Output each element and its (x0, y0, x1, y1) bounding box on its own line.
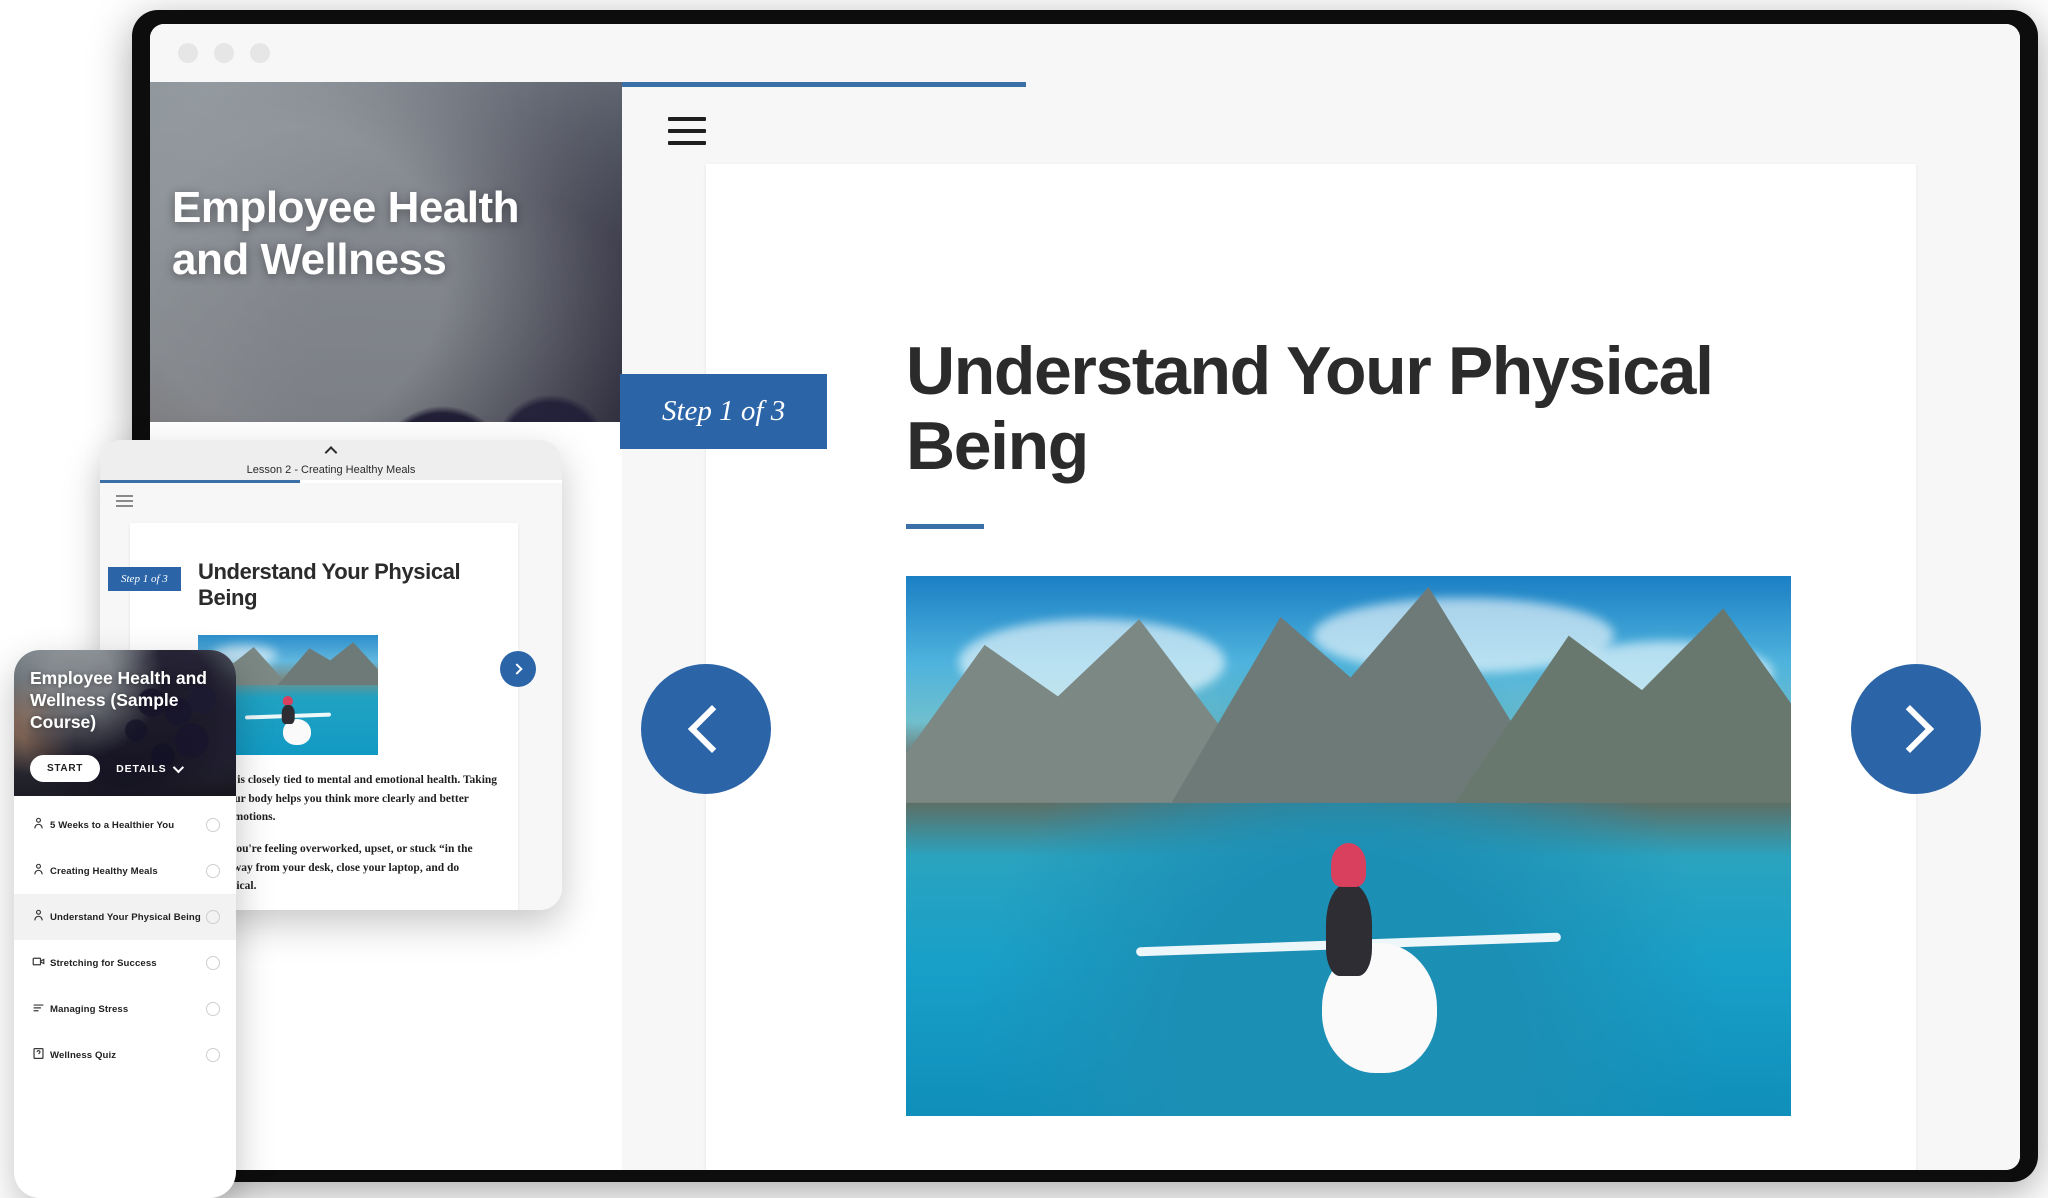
hamburger-icon[interactable] (668, 117, 706, 145)
list-item-label: Managing Stress (50, 1004, 206, 1015)
list-item[interactable]: Stretching for Success (14, 940, 236, 986)
chevron-up-icon[interactable] (325, 446, 338, 459)
heading-underline-rule (906, 524, 984, 529)
tablet-next-button[interactable] (500, 651, 536, 687)
list-item-label: Stretching for Success (50, 958, 206, 969)
chevron-left-icon (688, 705, 736, 753)
person-icon (32, 863, 50, 879)
tablet-lesson-label: Lesson 2 - Creating Healthy Meals (247, 464, 416, 476)
completion-checkbox[interactable] (206, 910, 220, 924)
phone-mockup: Employee Health and Wellness (Sample Cou… (14, 650, 236, 1198)
browser-titlebar (150, 24, 2020, 82)
window-maximize-dot[interactable] (250, 43, 270, 63)
tablet-step-badge: Step 1 of 3 (108, 567, 181, 591)
list-item[interactable]: Wellness Quiz (14, 1032, 236, 1078)
lines-icon (32, 1001, 50, 1017)
video-icon (32, 955, 50, 971)
quiz-icon (32, 1047, 50, 1063)
person-icon (32, 817, 50, 833)
lesson-pane: Step 1 of 3 Understand Your Physical Bei… (622, 82, 2020, 1170)
phone-course-title: Employee Health and Wellness (Sample Cou… (30, 668, 224, 734)
list-item-label: 5 Weeks to a Healthier You (50, 820, 206, 831)
person-icon (32, 909, 50, 925)
phone-lesson-list: 5 Weeks to a Healthier You Creating Heal… (14, 796, 236, 1078)
tablet-hamburger-icon[interactable] (116, 495, 133, 510)
list-item[interactable]: Creating Healthy Meals (14, 848, 236, 894)
completion-checkbox[interactable] (206, 818, 220, 832)
details-label: DETAILS (116, 763, 166, 775)
tablet-statusbar: Lesson 2 - Creating Healthy Meals (100, 440, 562, 480)
list-item-label: Creating Healthy Meals (50, 866, 206, 877)
completion-checkbox[interactable] (206, 864, 220, 878)
course-title: Employee Health and Wellness (172, 182, 592, 286)
list-item-label: Wellness Quiz (50, 1050, 206, 1061)
start-button[interactable]: START (30, 755, 100, 782)
kayaker (1325, 884, 1371, 976)
completion-checkbox[interactable] (206, 956, 220, 970)
previous-slide-button[interactable] (641, 664, 771, 794)
lesson-heading: Understand Your Physical Being (906, 334, 1796, 484)
lesson-card: Step 1 of 3 Understand Your Physical Bei… (706, 164, 1916, 1170)
chevron-right-icon (1886, 705, 1934, 753)
phone-hero: Employee Health and Wellness (Sample Cou… (14, 650, 236, 796)
list-item[interactable]: 5 Weeks to a Healthier You (14, 802, 236, 848)
chevron-right-icon (511, 663, 522, 674)
details-toggle[interactable]: DETAILS (116, 763, 180, 775)
list-item-active[interactable]: Understand Your Physical Being (14, 894, 236, 940)
list-item[interactable]: Managing Stress (14, 986, 236, 1032)
lesson-photo-kayak (906, 576, 1791, 1116)
list-item-label: Understand Your Physical Being (50, 912, 206, 923)
completion-checkbox[interactable] (206, 1048, 220, 1062)
tablet-lesson-heading: Understand Your Physical Being (198, 559, 498, 611)
window-minimize-dot[interactable] (214, 43, 234, 63)
lesson-topbar-progress (622, 82, 1026, 87)
step-badge: Step 1 of 3 (620, 374, 827, 449)
completion-checkbox[interactable] (206, 1002, 220, 1016)
phone-hero-actions: START DETAILS (30, 755, 181, 782)
window-close-dot[interactable] (178, 43, 198, 63)
next-slide-button[interactable] (1851, 664, 1981, 794)
